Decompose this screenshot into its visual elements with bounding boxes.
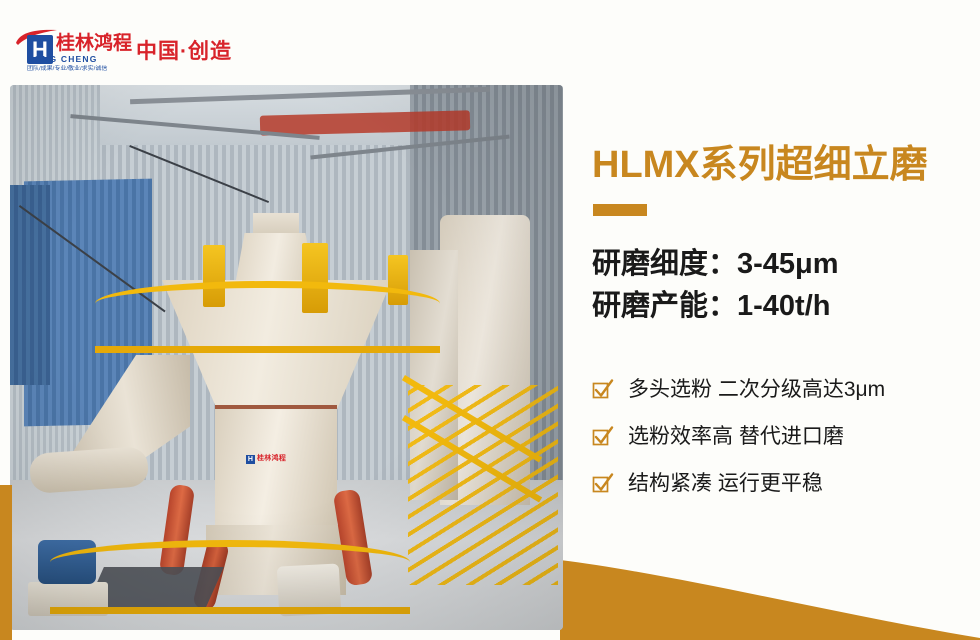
content-column: HLMX系列超细立磨 研磨细度：3-45μm 研磨产能：1-40t/h 多头选粉… (592, 0, 980, 640)
feature-item-3: 结构紧凑 运行更平稳 (592, 460, 980, 507)
check-box-icon (592, 379, 614, 401)
check-box-icon (592, 473, 614, 495)
photo-vignette (10, 85, 563, 630)
feature-list: 多头选粉 二次分级高达3μm 选粉效率高 替代进口磨 (592, 366, 980, 507)
brand-header: H 桂林鸿程 HONG CHENG 团队/成果/专业/敬业/求实/诚信 中国·创… (14, 27, 232, 75)
check-box-icon (592, 426, 614, 448)
feature-label-2: 选粉效率高 替代进口磨 (628, 424, 844, 450)
feature-item-2: 选粉效率高 替代进口磨 (592, 413, 980, 460)
feature-label-3: 结构紧凑 运行更平稳 (628, 471, 823, 497)
promo-poster: H 桂林鸿程 HONG CHENG 团队/成果/专业/敬业/求实/诚信 中国·创… (0, 0, 980, 640)
feature-item-1: 多头选粉 二次分级高达3μm (592, 366, 980, 413)
left-accent-bar (0, 485, 12, 640)
spec-capacity: 研磨产能：1-40t/h (592, 285, 980, 327)
spec-fineness: 研磨细度：3-45μm (592, 243, 980, 285)
company-logo: H 桂林鸿程 HONG CHENG 团队/成果/专业/敬业/求实/诚信 (14, 27, 118, 75)
title-underline-rule (593, 204, 647, 216)
brand-slogan: 中国·创造 (136, 35, 232, 65)
spec-list: 研磨细度：3-45μm 研磨产能：1-40t/h (592, 243, 980, 327)
page-title: HLMX系列超细立磨 (592, 142, 928, 188)
product-photo: H桂林鸿程 (10, 85, 563, 630)
logo-english-name: HONG CHENG (27, 54, 98, 64)
logo-tagline: 团队/成果/专业/敬业/求实/诚信 (27, 65, 107, 73)
logo-chinese-name: 桂林鸿程 (56, 33, 132, 54)
feature-label-1: 多头选粉 二次分级高达3μm (628, 377, 885, 403)
